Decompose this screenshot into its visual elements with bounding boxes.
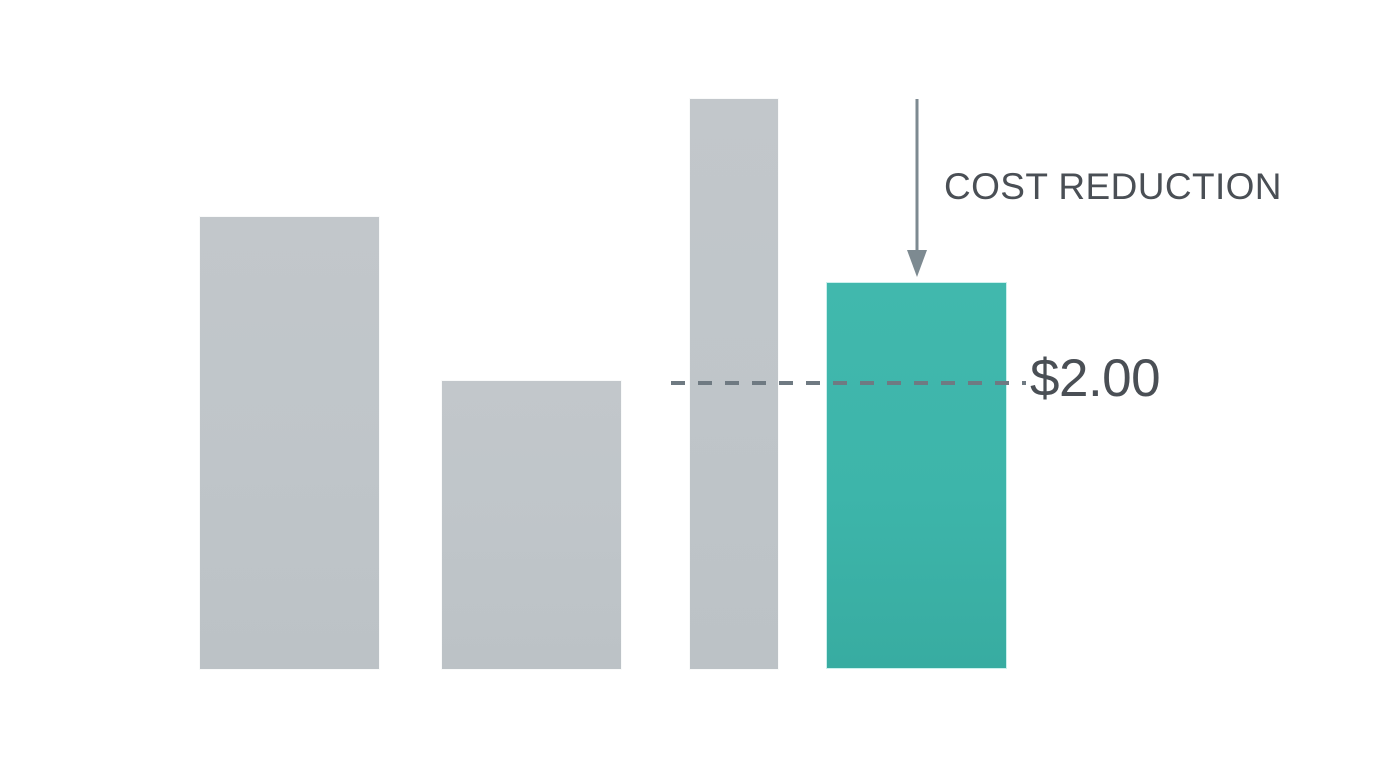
bar-column-1 <box>200 217 379 669</box>
down-arrow-icon <box>906 99 928 279</box>
annotation-text-cost-reduction: COST REDUCTION <box>944 168 1282 205</box>
threshold-value-label: $2.00 <box>1030 352 1160 405</box>
threshold-dashed-line <box>671 381 1026 385</box>
bar-column-4-highlighted <box>827 283 1006 668</box>
chart-canvas: $2.00 COST REDUCTION <box>0 0 1376 768</box>
bar-column-2 <box>442 381 621 669</box>
